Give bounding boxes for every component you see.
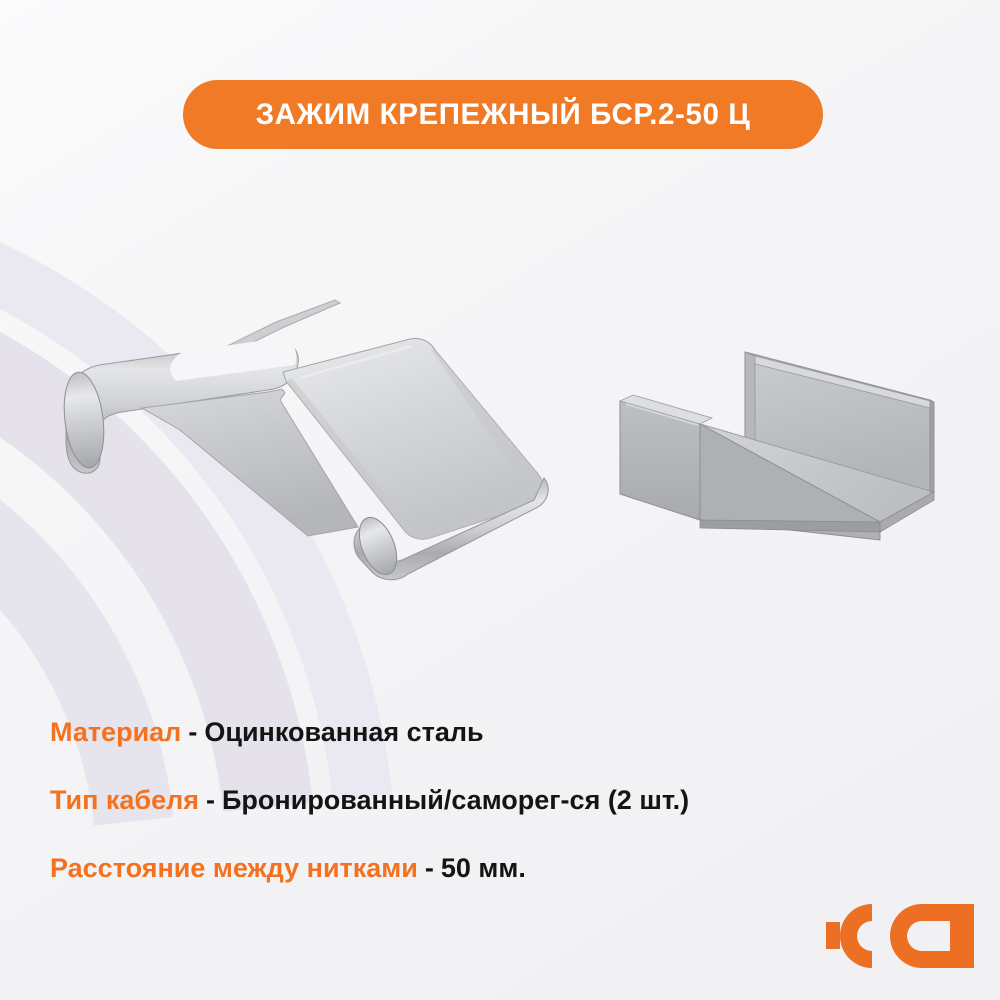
- product-card: ЗАЖИМ КРЕПЕЖНЫЙ БСР.2-50 Ц Материал - Оц…: [0, 0, 1000, 1000]
- spec-separator: -: [199, 787, 222, 814]
- mounting-clamp-render: [59, 300, 548, 580]
- spec-label-cable-type: Тип кабеля: [50, 787, 199, 814]
- u-channel-render: [620, 352, 934, 540]
- logo-c-first: [840, 904, 872, 968]
- cci-logo-mark: [826, 904, 974, 968]
- spec-row-cable-type: Тип кабеля - Бронированный/саморег-ся (2…: [50, 766, 950, 834]
- logo-bar: [826, 922, 840, 949]
- logo-square-block: [922, 904, 974, 968]
- cci-logo: [826, 900, 986, 972]
- spec-row-material: Материал - Оцинкованная сталь: [50, 698, 950, 766]
- channel-right-end: [930, 400, 934, 492]
- spec-label-thread-spacing: Расстояние между нитками: [50, 855, 418, 882]
- channel-back-wall-edge: [745, 352, 755, 443]
- spec-list: Материал - Оцинкованная сталь Тип кабеля…: [50, 698, 950, 902]
- spec-separator: -: [181, 719, 204, 746]
- channel-front-bottom: [700, 520, 880, 532]
- spec-value-material: Оцинкованная сталь: [204, 719, 483, 746]
- spec-separator: -: [418, 855, 441, 882]
- spec-row-thread-spacing: Расстояние между нитками - 50 мм.: [50, 834, 950, 902]
- page-title: ЗАЖИМ КРЕПЕЖНЫЙ БСР.2-50 Ц: [256, 100, 751, 130]
- spec-value-cable-type: Бронированный/саморег-ся (2 шт.): [222, 787, 689, 814]
- title-badge: ЗАЖИМ КРЕПЕЖНЫЙ БСР.2-50 Ц: [183, 80, 823, 149]
- spec-value-thread-spacing: 50 мм.: [441, 855, 526, 882]
- spec-label-material: Материал: [50, 719, 181, 746]
- logo-c-second: [890, 904, 922, 968]
